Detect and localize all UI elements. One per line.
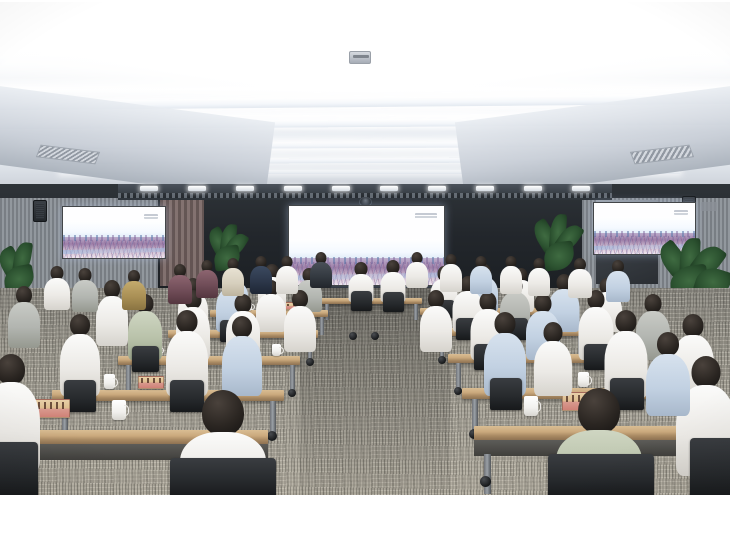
slide-logo-mark	[415, 213, 437, 220]
attendee-head	[202, 390, 244, 436]
attendee-head	[232, 316, 252, 338]
table-leg	[126, 365, 131, 391]
attendee	[420, 290, 452, 352]
downlight	[284, 186, 302, 191]
chair-caster	[371, 332, 379, 340]
table-leg	[414, 304, 418, 320]
name-card-text	[38, 402, 65, 409]
attendee-torso	[310, 262, 332, 288]
attendee	[196, 260, 218, 298]
attendee	[122, 270, 146, 310]
letterbox-bottom	[0, 495, 730, 548]
attendee	[276, 256, 298, 294]
attendee-head	[495, 312, 516, 335]
attendee-head	[70, 314, 90, 336]
downlight	[332, 186, 350, 191]
letterbox-top	[0, 0, 730, 2]
chair	[170, 458, 276, 495]
table-leg	[456, 363, 461, 389]
attendee-torso	[122, 281, 146, 310]
downlight	[236, 186, 254, 191]
attendee-torso	[72, 280, 98, 312]
attendee-torso	[568, 269, 592, 298]
table-leg	[484, 454, 491, 494]
attendee	[470, 256, 492, 294]
downlight	[572, 186, 590, 191]
chair	[490, 378, 522, 410]
downlight	[380, 186, 398, 191]
table-caster	[454, 387, 462, 395]
table-caster	[267, 431, 277, 441]
attendee	[646, 332, 690, 416]
attendee	[406, 252, 428, 288]
chair	[383, 292, 404, 312]
attendee-torso	[500, 266, 522, 294]
attendee-torso	[168, 275, 192, 304]
table-caster	[438, 356, 446, 364]
downlight	[140, 186, 158, 191]
attendee-torso	[470, 266, 492, 294]
attendee-head	[0, 354, 25, 385]
slide-logo-mark	[144, 214, 158, 219]
downlight	[476, 186, 494, 191]
photo-viewport	[0, 0, 730, 548]
attendee-torso	[534, 341, 572, 396]
chair	[690, 438, 730, 495]
ceiling-projector	[349, 51, 371, 64]
attendee-torso	[44, 278, 70, 310]
attendee	[8, 286, 40, 348]
table-leg	[290, 365, 295, 391]
table-leg	[270, 401, 276, 433]
attendee	[168, 264, 192, 304]
chair-caster	[349, 332, 357, 340]
conference-room-photograph	[0, 2, 730, 495]
attendee-head	[177, 310, 198, 333]
attendee-torso	[528, 268, 550, 296]
slide-logo-mark	[674, 210, 688, 215]
chair	[351, 291, 372, 311]
attendee	[72, 268, 98, 312]
attendee	[222, 316, 262, 396]
ceiling	[0, 2, 730, 192]
attendee-head	[657, 332, 679, 356]
attendee	[568, 258, 592, 298]
attendee-torso	[646, 354, 690, 416]
downlight	[524, 186, 542, 191]
attendee	[284, 290, 316, 352]
chair	[0, 442, 38, 495]
attendee-torso	[406, 262, 428, 288]
attendee-torso	[196, 270, 218, 298]
left-auxiliary-screen[interactable]	[62, 206, 166, 259]
attendee-torso	[222, 268, 244, 296]
attendee-head	[578, 388, 620, 434]
downlight	[188, 186, 206, 191]
name-card	[138, 376, 164, 389]
name-card-text	[141, 378, 160, 383]
attendee-torso	[420, 306, 452, 352]
attendee-torso	[440, 264, 462, 292]
attendee-head	[544, 322, 563, 343]
chair	[132, 346, 159, 372]
wall-speaker-left	[33, 200, 47, 222]
mug	[272, 344, 281, 356]
attendee-torso	[606, 271, 630, 302]
attendee	[500, 256, 522, 294]
table-leg	[320, 317, 324, 335]
attendee	[440, 254, 462, 292]
chair	[548, 454, 654, 495]
attendee-torso	[276, 266, 298, 294]
attendee	[250, 256, 272, 294]
attendee-torso	[222, 336, 262, 396]
attendee	[534, 322, 572, 396]
attendee	[222, 258, 244, 296]
cityscape-image	[63, 221, 165, 258]
attendee	[44, 266, 70, 310]
attendee-torso	[250, 266, 272, 294]
attendee-head	[692, 356, 721, 388]
table-caster	[480, 476, 491, 487]
wall-sign	[701, 202, 717, 211]
attendee	[606, 260, 630, 302]
attendee	[528, 258, 550, 296]
mug	[524, 396, 538, 416]
downlight	[428, 186, 446, 191]
mug	[578, 372, 589, 387]
attendee	[310, 252, 332, 288]
attendee-torso	[8, 302, 40, 348]
attendee-torso	[284, 306, 316, 352]
mug	[112, 400, 126, 420]
mug	[104, 374, 115, 389]
attendee-head	[615, 310, 636, 333]
table-caster	[306, 358, 314, 366]
table-caster	[288, 389, 296, 397]
